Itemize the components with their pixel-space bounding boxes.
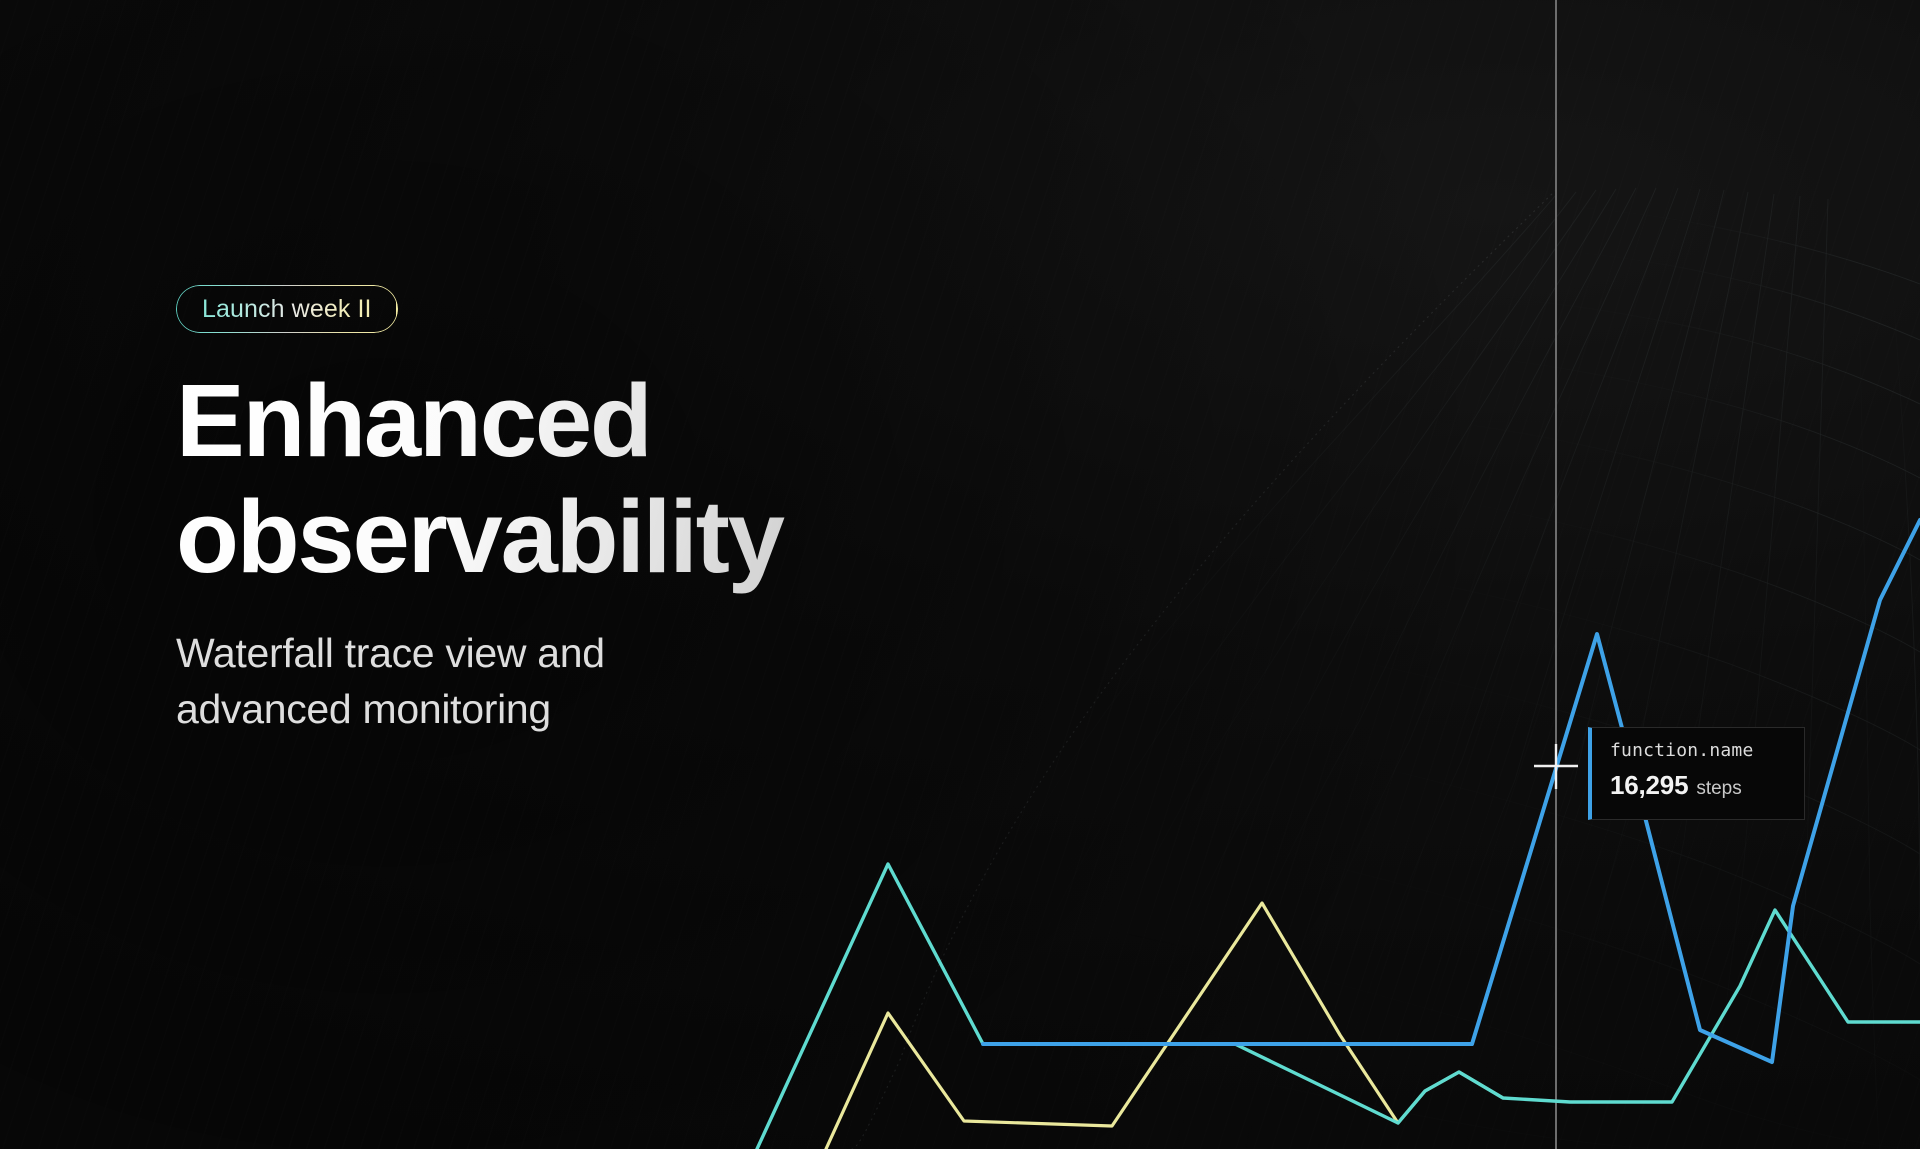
series-cream-line [826,903,1503,1149]
hero-content: Launch week II Enhanced observability Wa… [176,285,996,737]
tooltip-value: 16,295 [1610,772,1688,798]
page-title: Enhanced observability [176,363,996,596]
subtitle-line-1: Waterfall trace view and [176,626,996,682]
chart-tooltip: function.name 16,295 steps [1588,727,1805,820]
series-cyan-line [757,864,1920,1149]
tooltip-unit: steps [1696,779,1741,798]
crosshair-marker [1534,744,1578,789]
headline-line-2: observability [176,479,996,595]
tooltip-series-name: function.name [1610,742,1804,760]
hero-banner: function.name 16,295 steps Launch week I… [0,0,1920,1149]
tooltip-value-row: 16,295 steps [1610,772,1804,798]
page-subtitle: Waterfall trace view and advanced monito… [176,626,996,738]
launch-week-badge[interactable]: Launch week II [176,285,398,333]
headline-line-1: Enhanced [176,363,996,479]
subtitle-line-2: advanced monitoring [176,682,996,738]
